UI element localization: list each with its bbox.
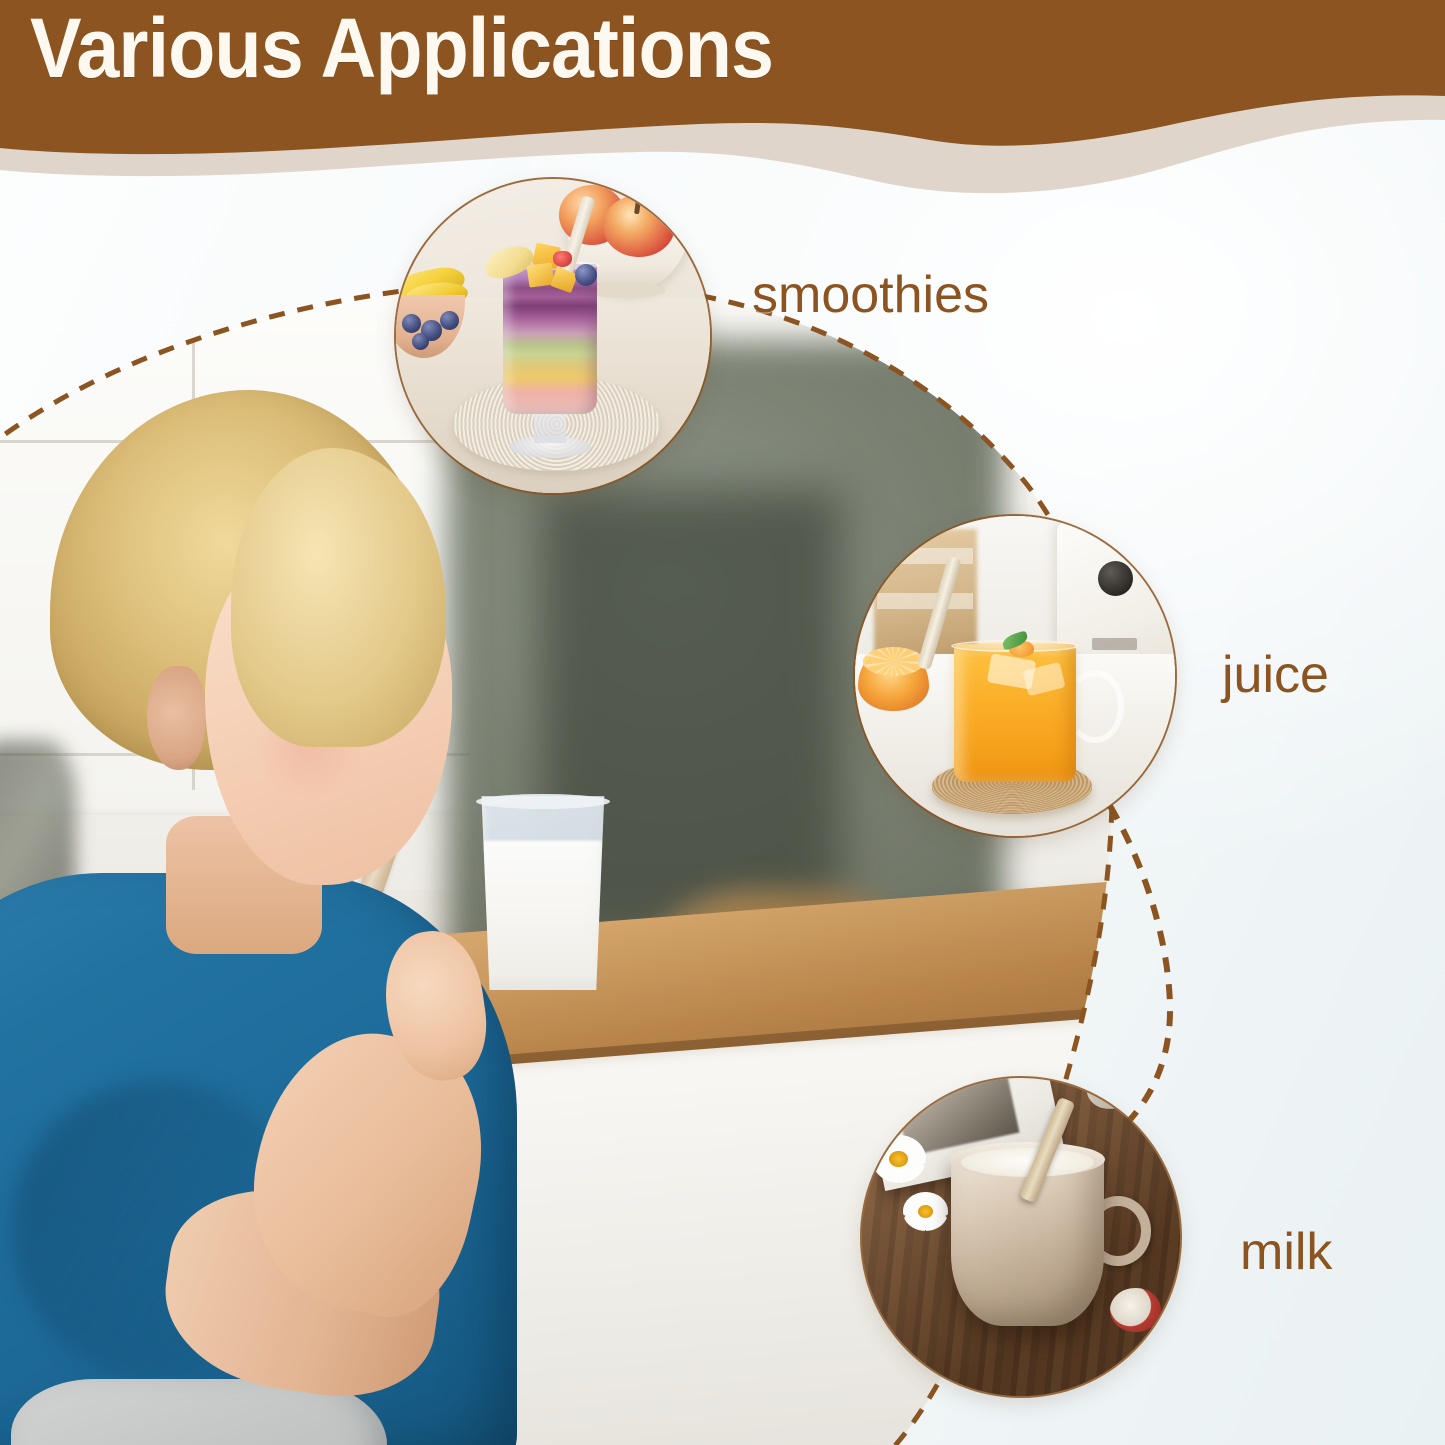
inset-image-milk[interactable] [862, 1078, 1180, 1396]
label-smoothies: smoothies [752, 265, 989, 325]
label-juice: juice [1222, 645, 1329, 705]
blueberry-icon [575, 264, 597, 286]
smoothie-glass [503, 264, 597, 415]
strawberry-icon [553, 251, 572, 267]
header-banner: Various Applications [0, 0, 1445, 210]
milk-scene [862, 1078, 1180, 1396]
blueberry-icon [440, 311, 459, 330]
daisy-flower-icon [903, 1192, 948, 1230]
smoothie-scene [396, 179, 710, 493]
boy-figure [0, 390, 621, 1445]
blueberry-icon [402, 314, 421, 333]
blueberry-icon [412, 333, 429, 350]
label-milk: milk [1240, 1222, 1332, 1282]
inset-image-smoothies[interactable] [396, 179, 710, 493]
juice-scene [855, 516, 1175, 836]
product-infographic: Various Applications [0, 0, 1445, 1445]
daisy-flower-icon [872, 1135, 926, 1183]
page-title: Various Applications [30, 6, 773, 90]
inset-image-juice[interactable] [855, 516, 1175, 836]
